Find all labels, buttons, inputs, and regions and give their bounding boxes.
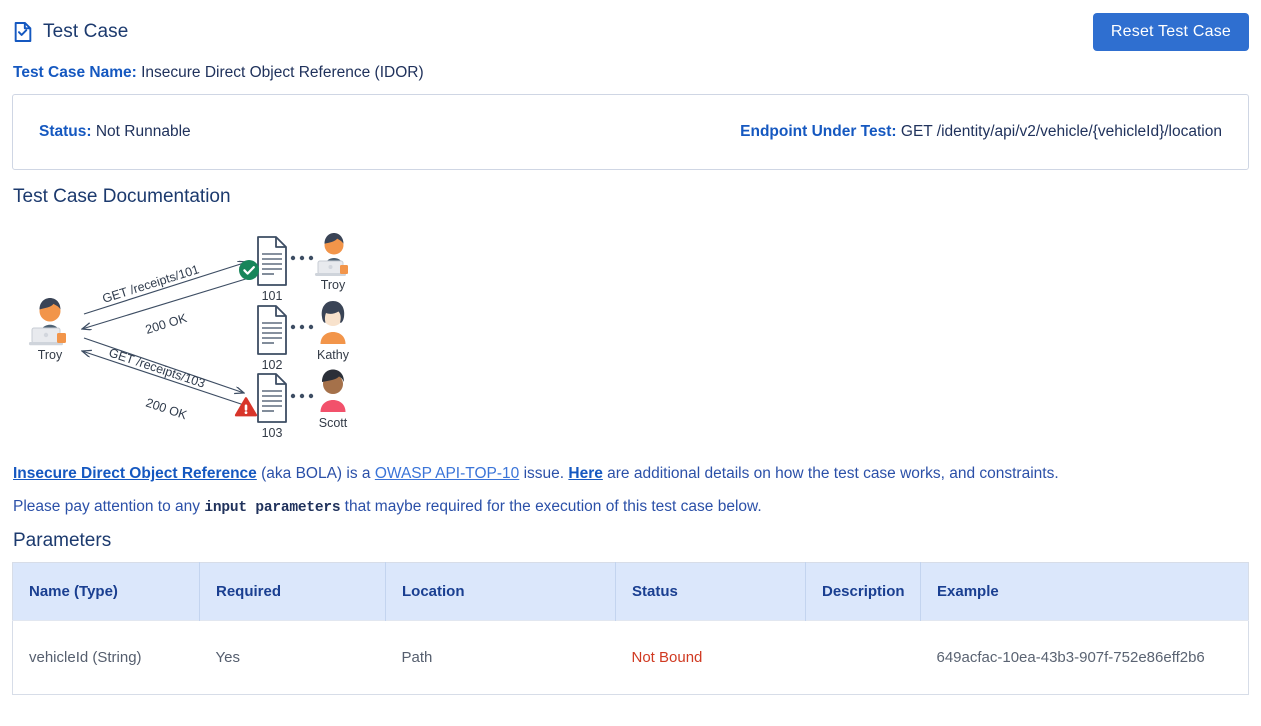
parameters-table-body: vehicleId (String) Yes Path Not Bound 64… [13, 621, 1249, 695]
resource-102: 102 Kathy [258, 301, 350, 372]
arrow-label-200-ok-2: 200 OK [144, 396, 189, 423]
col-name-type: Name (Type) [13, 563, 200, 621]
here-link[interactable]: Here [568, 465, 602, 482]
arrow-label-get-103: GET /receipts/103 [107, 346, 207, 391]
arrow-200-ok-103 [82, 351, 247, 406]
owner-name-101: Troy [321, 278, 346, 292]
col-example: Example [921, 563, 1249, 621]
page-title-group: Test Case [12, 21, 128, 43]
endpoint-value: GET /identity/api/v2/vehicle/{vehicleId}… [901, 123, 1222, 140]
status-group: Status: Not Runnable [39, 123, 191, 141]
resource-103: 103 Scott [236, 370, 348, 441]
avatar-scott: Scott [319, 370, 348, 431]
doc-text-1b: issue. [519, 465, 568, 482]
test-case-page: Test Case Reset Test Case Test Case Name… [0, 0, 1261, 726]
actor-troy: Troy [29, 298, 66, 362]
arrow-label-200-ok-1: 200 OK [144, 311, 189, 337]
resource-101: 101 Troy [239, 233, 348, 303]
green-check-icon [239, 260, 259, 280]
idor-link[interactable]: Insecure Direct Object Reference [13, 465, 257, 482]
table-header-row: Name (Type) Required Location Status Des… [13, 563, 1249, 621]
parameters-table-head: Name (Type) Required Location Status Des… [13, 563, 1249, 621]
input-parameters-code: input parameters [204, 500, 340, 516]
cell-required: Yes [200, 621, 386, 695]
col-location: Location [386, 563, 616, 621]
diagram-svg: Troy GET /receipts/101 200 OK GET /recei… [12, 216, 392, 456]
col-required: Required [200, 563, 386, 621]
cell-status: Not Bound [616, 621, 806, 695]
dots-103 [291, 394, 313, 398]
owner-name-103: Scott [319, 416, 348, 430]
owasp-api-top-10-link[interactable]: OWASP API-TOP-10 [375, 465, 519, 482]
endpoint-label: Endpoint Under Test: [740, 123, 896, 140]
arrow-label-get-101: GET /receipts/101 [101, 262, 201, 306]
status-label: Status: [39, 123, 92, 140]
svg-text:Troy: Troy [38, 348, 63, 362]
dots-102 [291, 325, 313, 329]
cell-name-type: vehicleId (String) [13, 621, 200, 695]
red-warning-icon [236, 399, 256, 416]
reset-test-case-button[interactable]: Reset Test Case [1093, 13, 1249, 51]
status-panel: Status: Not Runnable Endpoint Under Test… [12, 94, 1249, 170]
doc-text-1a: (aka BOLA) is a [257, 465, 375, 482]
dots-101 [291, 256, 313, 260]
col-status: Status [616, 563, 806, 621]
cell-location: Path [386, 621, 616, 695]
idor-sequence-diagram: Troy GET /receipts/101 200 OK GET /recei… [12, 216, 1249, 456]
status-value: Not Runnable [96, 123, 191, 140]
resource-id-102: 102 [262, 358, 283, 372]
page-title: Test Case [43, 21, 128, 43]
resource-id-101: 101 [262, 289, 283, 303]
resource-id-103: 103 [262, 426, 283, 440]
parameters-heading: Parameters [13, 530, 1249, 552]
owner-name-102: Kathy [317, 348, 350, 362]
cell-description [806, 621, 921, 695]
documentation-heading: Test Case Documentation [13, 186, 1249, 208]
table-row: vehicleId (String) Yes Path Not Bound 64… [13, 621, 1249, 695]
document-check-icon [12, 21, 34, 43]
doc-text-2a: Please pay attention to any [13, 498, 204, 515]
col-description: Description [806, 563, 921, 621]
parameters-table: Name (Type) Required Location Status Des… [12, 562, 1249, 695]
test-case-name-row: Test Case Name: Insecure Direct Object R… [12, 64, 1249, 82]
cell-example: 649acfac-10ea-43b3-907f-752e86eff2b6 [921, 621, 1249, 695]
avatar-troy-101: Troy [315, 233, 348, 292]
test-case-name-label: Test Case Name: [13, 64, 137, 81]
documentation-text: Insecure Direct Object Reference (aka BO… [12, 464, 1249, 518]
page-header: Test Case Reset Test Case [12, 0, 1249, 56]
doc-paragraph-1: Insecure Direct Object Reference (aka BO… [13, 464, 1249, 485]
doc-paragraph-2: Please pay attention to any input parame… [13, 497, 1249, 519]
avatar-kathy: Kathy [317, 301, 350, 362]
test-case-name-value: Insecure Direct Object Reference (IDOR) [141, 64, 424, 81]
arrow-get-101 [84, 262, 247, 314]
doc-text-1c: are additional details on how the test c… [603, 465, 1059, 482]
doc-text-2b: that maybe required for the execution of… [340, 498, 761, 515]
endpoint-group: Endpoint Under Test: GET /identity/api/v… [740, 123, 1222, 141]
